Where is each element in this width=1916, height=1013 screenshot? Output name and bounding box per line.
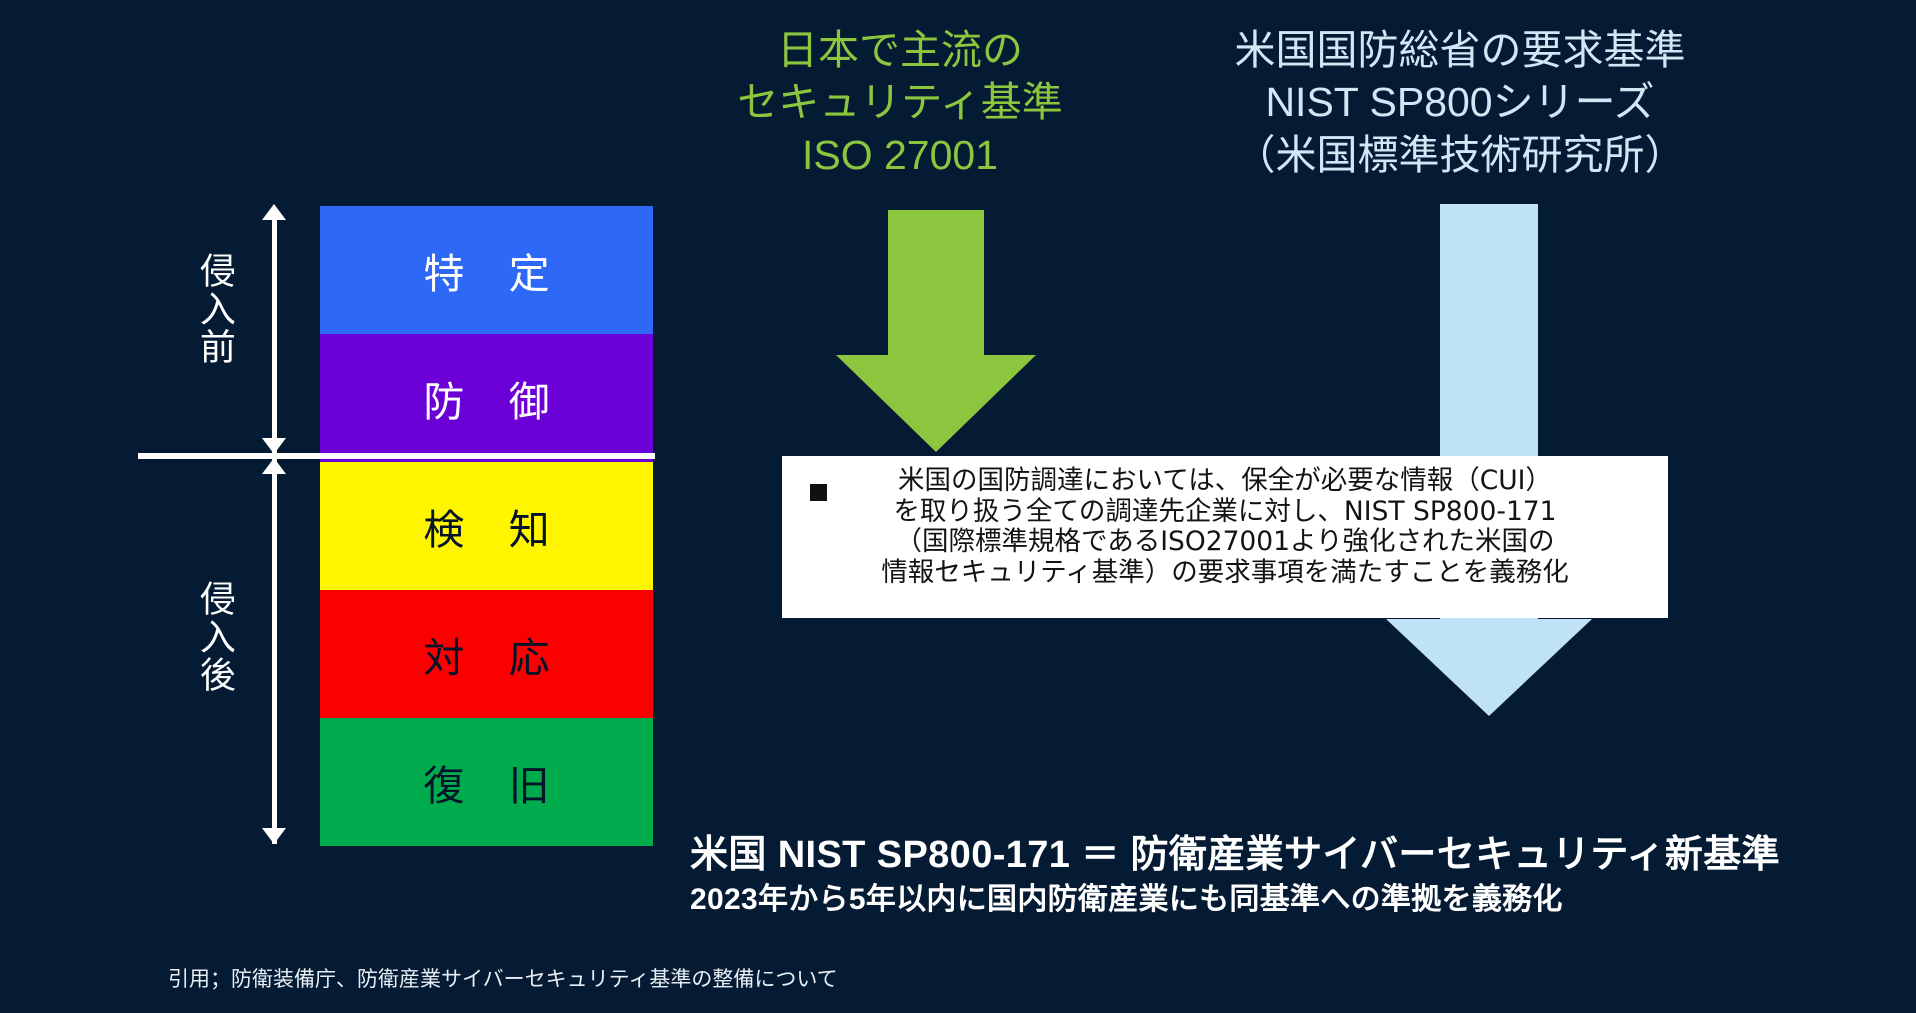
framework-band-detect: 検 知 — [320, 462, 653, 590]
callout-box: 米国の国防調達においては、保全が必要な情報（CUI） を取り扱う全ての調達先企業… — [782, 456, 1668, 618]
framework-band-label: 復 旧 — [408, 752, 565, 812]
slide-canvas: 特 定 防 御 検 知 対 応 復 旧 侵入前 侵入後 日本で主流の セキュリテ… — [0, 0, 1916, 1013]
framework-band-label: 検 知 — [408, 496, 565, 556]
pre-intrusion-arrow-rail — [272, 212, 277, 454]
phase-label-pre-intrusion: 侵入前 — [192, 252, 236, 365]
intrusion-divider-line — [138, 453, 655, 459]
arrow-up-icon — [262, 458, 286, 474]
callout-text: 米国の国防調達においては、保全が必要な情報（CUI） を取り扱う全ての調達先企業… — [796, 466, 1654, 589]
framework-band-label: 特 定 — [408, 240, 565, 300]
framework-stack: 特 定 防 御 検 知 対 応 復 旧 — [320, 206, 653, 846]
heading-iso27001: 日本で主流の セキュリティ基準 ISO 27001 — [700, 24, 1100, 181]
conclusion-sub-text: 2023年から5年以内に国内防衛産業にも同基準への準拠を義務化 — [690, 874, 1563, 918]
post-intrusion-arrow-rail — [272, 458, 277, 844]
conclusion-main-text: 米国 NIST SP800-171 ＝ 防衛産業サイバーセキュリティ新基準 — [690, 823, 1780, 878]
framework-band-label: 防 御 — [408, 368, 565, 428]
framework-band-label: 対 応 — [408, 624, 565, 684]
square-bullet-icon — [810, 484, 827, 501]
framework-band-protect: 防 御 — [320, 334, 653, 462]
framework-band-identify: 特 定 — [320, 206, 653, 334]
citation-text: 引用；防衛装備庁、防衛産業サイバーセキュリティ基準の整備について — [168, 963, 838, 993]
framework-band-respond: 対 応 — [320, 590, 653, 718]
framework-band-recover: 復 旧 — [320, 718, 653, 846]
heading-nist-sp800: 米国国防総省の要求基準 NIST SP800シリーズ （米国標準技術研究所） — [1160, 24, 1760, 181]
arrow-down-icon — [262, 438, 286, 454]
arrow-up-icon — [262, 204, 286, 220]
arrow-down-icon — [262, 828, 286, 844]
phase-label-post-intrusion: 侵入後 — [192, 580, 236, 693]
green-down-arrow-icon — [836, 210, 1036, 452]
